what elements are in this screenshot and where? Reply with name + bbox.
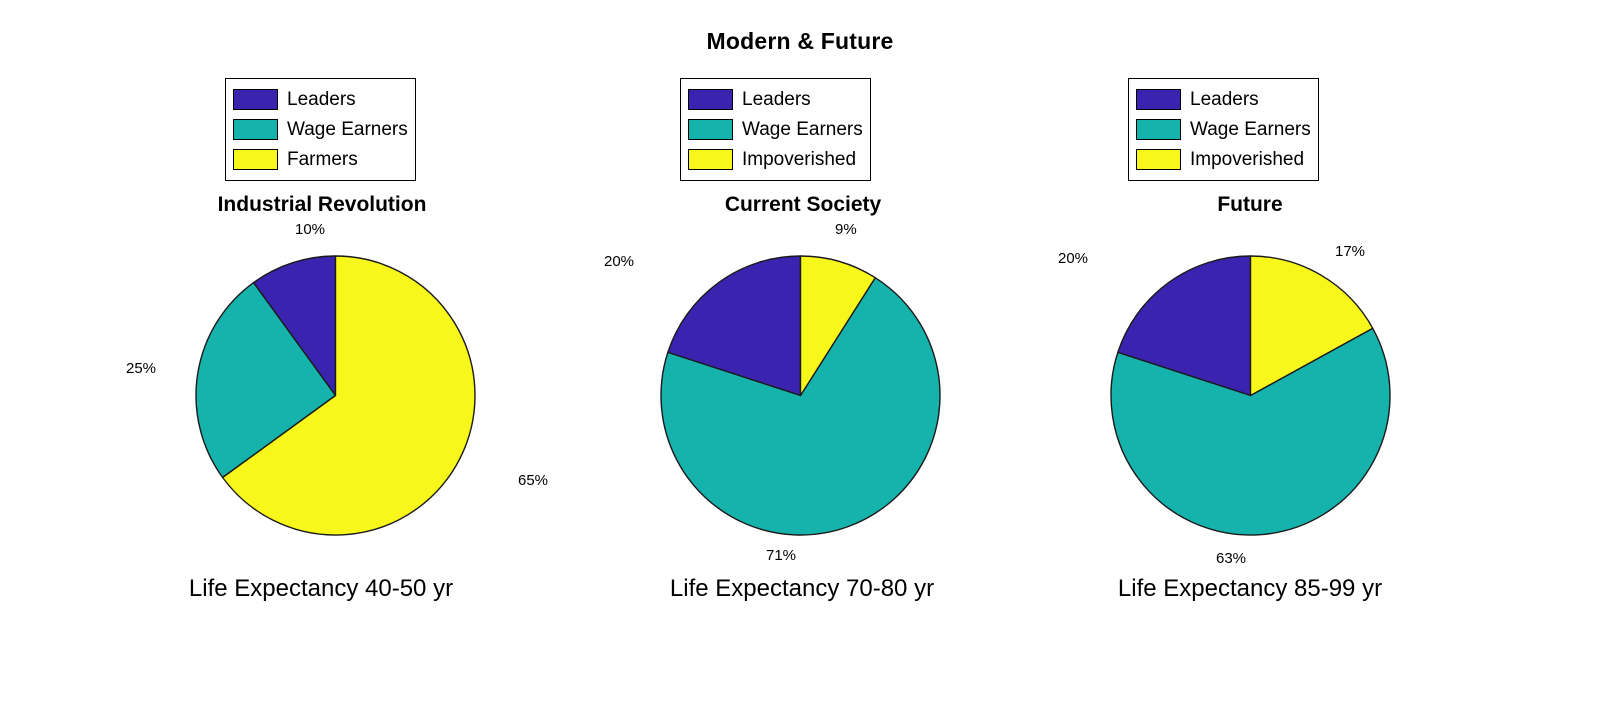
legend-item-label: Impoverished [1190,150,1304,169]
pie-panel-industrial-revolution: Leaders Wage Earners Farmers Industrial … [75,0,595,715]
legend-item[interactable]: Wage Earners [233,114,408,144]
legend-swatch-icon [688,149,733,170]
legend-item-label: Farmers [287,150,358,169]
panel-caption: Life Expectancy 40-50 yr [61,575,581,603]
legend-item-label: Wage Earners [1190,120,1311,139]
legend-item-label: Leaders [287,90,356,109]
pie-panel-future: Leaders Wage Earners Impoverished Future… [990,0,1510,715]
legend-swatch-icon [688,89,733,110]
pie-slice-label: 71% [766,548,796,563]
pie-chart-0: 10% 25% 65% [188,248,483,543]
legend-item[interactable]: Wage Earners [688,114,863,144]
panel-caption: Life Expectancy 70-80 yr [542,575,1062,603]
figure-canvas: Modern & Future Leaders Wage Earners Far… [0,0,1600,715]
legend-swatch-icon [1136,149,1181,170]
legend-item-label: Impoverished [742,150,856,169]
legend-panel-2: Leaders Wage Earners Impoverished [1128,78,1319,181]
legend-item-label: Leaders [1190,90,1259,109]
pie-slice-label: 20% [1058,251,1088,266]
legend-swatch-icon [1136,89,1181,110]
pie-slice-label: 25% [126,361,156,376]
pie-slice-label: 10% [295,222,325,237]
legend-item[interactable]: Farmers [233,144,408,174]
panel-title: Industrial Revolution [62,193,582,217]
pie-slice-label: 9% [835,222,857,237]
legend-item[interactable]: Impoverished [688,144,863,174]
legend-swatch-icon [233,149,278,170]
panel-title: Current Society [543,193,1063,217]
legend-item-label: Wage Earners [287,120,408,139]
legend-item-label: Leaders [742,90,811,109]
legend-item[interactable]: Leaders [688,84,863,114]
legend-panel-1: Leaders Wage Earners Impoverished [680,78,871,181]
legend-item[interactable]: Leaders [1136,84,1311,114]
pie-slice-label: 17% [1335,244,1365,259]
pie-svg-0 [188,248,483,543]
legend-item[interactable]: Wage Earners [1136,114,1311,144]
legend-swatch-icon [233,89,278,110]
pie-slice-label: 20% [604,254,634,269]
pie-svg-1 [653,248,948,543]
pie-slice-label: 63% [1216,551,1246,566]
legend-swatch-icon [688,119,733,140]
legend-item[interactable]: Impoverished [1136,144,1311,174]
legend-swatch-icon [1136,119,1181,140]
panel-title: Future [990,193,1510,217]
legend-item[interactable]: Leaders [233,84,408,114]
pie-panel-current-society: Leaders Wage Earners Impoverished Curren… [540,0,1060,715]
legend-item-label: Wage Earners [742,120,863,139]
legend-swatch-icon [233,119,278,140]
pie-svg-2 [1103,248,1398,543]
legend-panel-0: Leaders Wage Earners Farmers [225,78,416,181]
pie-chart-2: 20% 17% 63% [1103,248,1398,543]
pie-chart-1: 20% 9% 71% [653,248,948,543]
panel-caption: Life Expectancy 85-99 yr [990,575,1510,603]
